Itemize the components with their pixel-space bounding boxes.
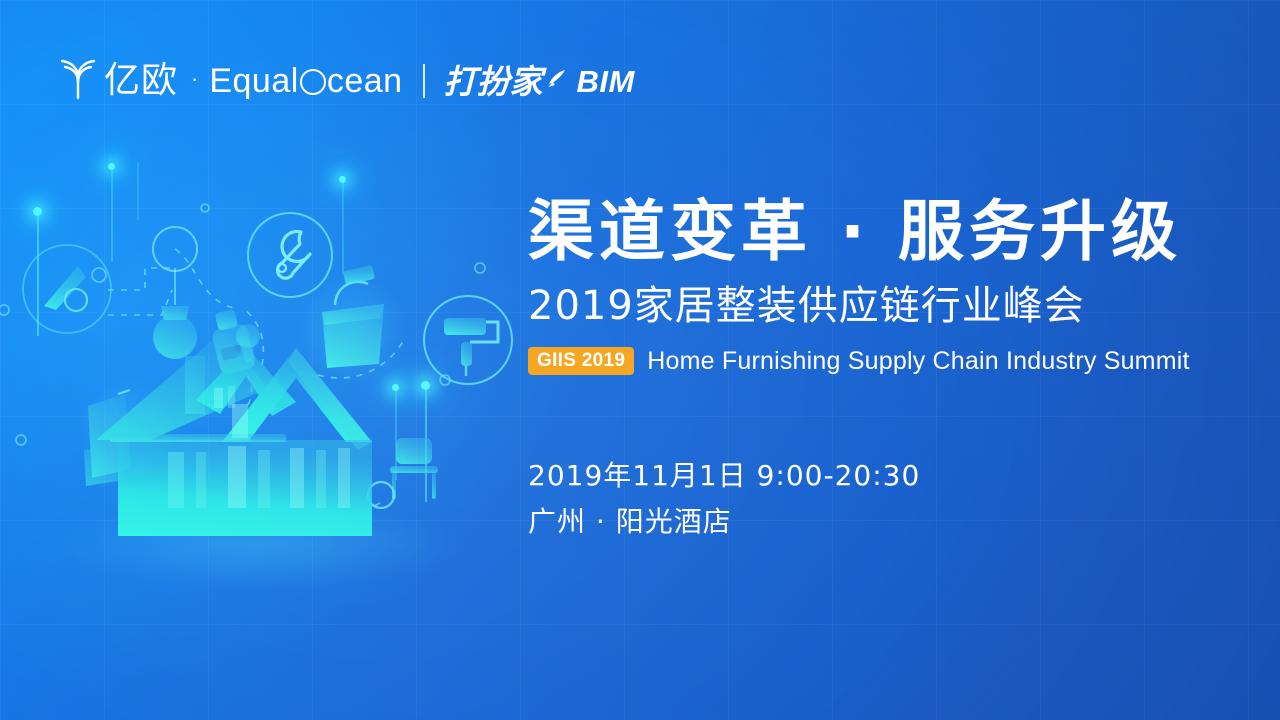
english-title: Home Furnishing Supply Chain Industry Su… — [647, 349, 1189, 374]
equalocean-label: Equal cean — [209, 64, 402, 98]
yiou-label: 亿欧 — [104, 63, 178, 99]
event-date: 2019年11月1日 9:00-20:30 — [528, 453, 1228, 498]
yiou-logo-icon — [58, 58, 98, 105]
glow-dot — [392, 384, 399, 391]
equalocean-part1: Equal — [209, 64, 298, 98]
page-title: 渠道变革 · 服务升级 — [528, 196, 1228, 267]
bim-label: BIM — [577, 66, 635, 97]
equalocean-part2: cean — [327, 64, 403, 98]
glow-dot — [33, 207, 42, 216]
giis-badge: GIIS 2019 — [528, 347, 634, 375]
content-column: 渠道变革 · 服务升级 2019家居整装供应链行业峰会 GIIS 2019 Ho… — [528, 196, 1228, 544]
glow-dot — [108, 163, 115, 170]
page-subtitle: 2019家居整装供应链行业峰会 — [528, 283, 1228, 329]
logo-separator-dot: · — [191, 68, 198, 90]
logo-bar: 亿欧 · Equal cean 打扮家 BIM — [58, 54, 635, 108]
glow-dot — [339, 176, 346, 183]
illustration — [0, 150, 520, 620]
event-venue: 广州 · 阳光酒店 — [528, 499, 1228, 544]
dabanjia-label: 打扮家 — [444, 65, 543, 98]
wrench-icon — [248, 213, 332, 297]
glow-dot — [421, 381, 430, 390]
paint-roller-icon — [424, 296, 512, 384]
pendant-lamp-icon — [153, 268, 197, 359]
chair-icon — [390, 438, 438, 499]
set-square-icon — [23, 245, 111, 333]
poster-root: 亿欧 · Equal cean 打扮家 BIM 渠道变革 · 服务升级 2019… — [0, 0, 1280, 720]
event-meta: 2019年11月1日 9:00-20:30 广州 · 阳光酒店 — [528, 453, 1228, 544]
logo-divider — [423, 64, 425, 98]
ocean-o-ring-icon — [300, 69, 326, 95]
rocket-icon — [546, 68, 568, 95]
english-title-row: GIIS 2019 Home Furnishing Supply Chain I… — [528, 347, 1228, 375]
